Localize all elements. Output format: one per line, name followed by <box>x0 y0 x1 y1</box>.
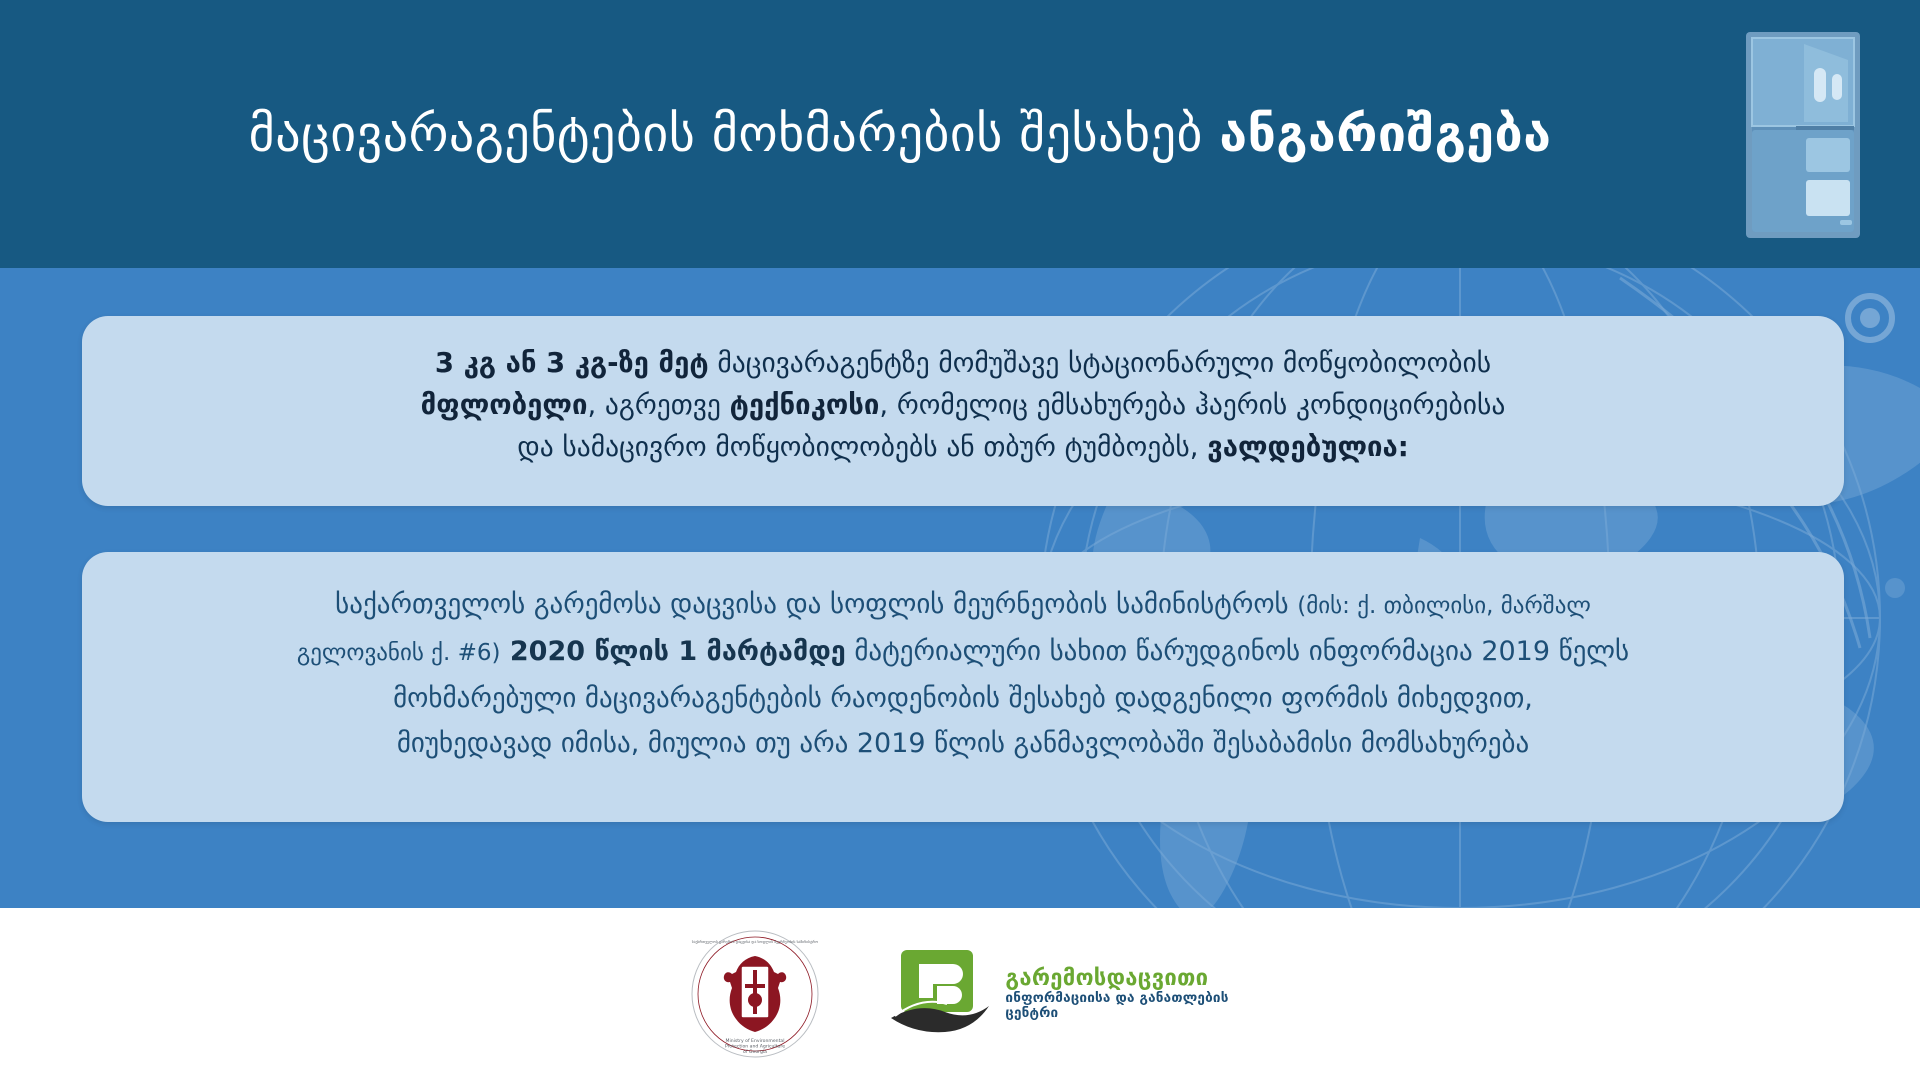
svg-text:საქართველოს გარემოს დაცვისა და: საქართველოს გარემოს დაცვისა და სოფლის მე… <box>692 940 819 944</box>
card1-line2-seg2: , აგრეთვე <box>587 389 729 421</box>
card2-line1-address-start: (მის: ქ. თბილისი, მარშალ <box>1297 593 1591 619</box>
environmental-information-education-centre-logo: გარემოსდაცვითი ინფორმაციისა და განათლები… <box>885 946 1228 1042</box>
svg-text:Ministry of Environmental: Ministry of Environmental <box>726 1038 785 1044</box>
card2-line-2: გელოვანის ქ. #6) 2020 წლის 1 მარტამდე მა… <box>128 629 1798 676</box>
page-title-text: მაცივარაგენტების მოხმარების შესახებ ანგა… <box>249 107 1552 162</box>
card1-line3-seg1: და სამაცივრო მოწყობილობებს ან თბურ ტუმბო… <box>517 431 1207 463</box>
content-area: 3 კგ ან 3 კგ-ზე მეტ მაცივარაგენტზე მომუშ… <box>0 268 1920 908</box>
svg-text:of Georgia: of Georgia <box>743 1049 767 1055</box>
footer-logos: Ministry of Environmental Protection and… <box>0 908 1920 1080</box>
page-title-emphasis: ანგარიშგება <box>1219 105 1551 163</box>
card2-line2-deadline: 2020 წლის 1 მარტამდე <box>500 636 845 667</box>
ministry-of-environment-coat-of-arms-logo: Ministry of Environmental Protection and… <box>691 930 819 1058</box>
card1-line2-seg3: ტექნიკოსი <box>730 389 880 421</box>
slide-root: მაცივარაგენტების მოხმარების შესახებ ანგა… <box>0 0 1920 1080</box>
card2-line3-seg1: მოხმარებული მაცივარაგენტების რაოდენობის … <box>393 683 1533 714</box>
card1-line-3: და სამაცივრო მოწყობილობებს ან თბურ ტუმბო… <box>122 426 1804 468</box>
card2-line2-address-end: გელოვანის ქ. #6) <box>297 640 501 666</box>
card1-line3-seg2: ვალდებულია: <box>1207 431 1409 463</box>
centre-logo-subtitle-1: ინფორმაციისა და განათლების <box>1005 991 1228 1006</box>
page-title-normal: მაცივარაგენტების მოხმარების შესახებ <box>249 105 1220 163</box>
card1-line-1: 3 კგ ან 3 კგ-ზე მეტ მაცივარაგენტზე მომუშ… <box>122 342 1804 384</box>
card2-line2-seg3: მატერიალური სახით წარუდგინოს ინფორმაცია … <box>846 636 1629 667</box>
card1-line1-seg1: 3 კგ ან 3 კგ-ზე მეტ <box>435 347 709 379</box>
card1-line2-seg1: მფლობელი <box>421 389 588 421</box>
centre-logo-text: გარემოსდაცვითი ინფორმაციისა და განათლები… <box>1005 967 1228 1022</box>
centre-leaf-book-mark-icon <box>885 946 995 1042</box>
card2-line-1: საქართველოს გარემოსა დაცვისა და სოფლის მ… <box>128 582 1798 629</box>
card1-line2-seg4: , რომელიც ემსახურება ჰაერის კონდიცირების… <box>879 389 1505 421</box>
centre-logo-subtitle-2: ცენტრი <box>1005 1006 1228 1021</box>
refrigerator-icon <box>1744 30 1862 240</box>
centre-logo-title: გარემოსდაცვითი <box>1005 967 1228 992</box>
page-title: მაცივარაგენტების მოხმარების შესახებ ანგა… <box>0 0 1790 268</box>
card1-line1-seg2: მაცივარაგენტზე მომუშავე სტაციონარული მოწ… <box>709 347 1491 379</box>
card1-line-2: მფლობელი, აგრეთვე ტექნიკოსი, რომელიც ემს… <box>122 384 1804 426</box>
svg-text:Protection and Agriculture: Protection and Agriculture <box>725 1044 785 1050</box>
info-card-requirement: 3 კგ ან 3 კგ-ზე მეტ მაცივარაგენტზე მომუშ… <box>82 316 1844 506</box>
header-banner: მაცივარაგენტების მოხმარების შესახებ ანგა… <box>0 0 1920 268</box>
info-card-submission-details: საქართველოს გარემოსა დაცვისა და სოფლის მ… <box>82 552 1844 822</box>
card2-line-3: მოხმარებული მაცივარაგენტების რაოდენობის … <box>128 676 1798 721</box>
card2-line-4: მიუხედავად იმისა, მიულია თუ არა 2019 წლი… <box>128 721 1798 766</box>
card2-line1-seg1: საქართველოს გარემოსა დაცვისა და სოფლის მ… <box>335 589 1297 620</box>
card2-line4-seg1: მიუხედავად იმისა, მიულია თუ არა 2019 წლი… <box>397 728 1529 759</box>
